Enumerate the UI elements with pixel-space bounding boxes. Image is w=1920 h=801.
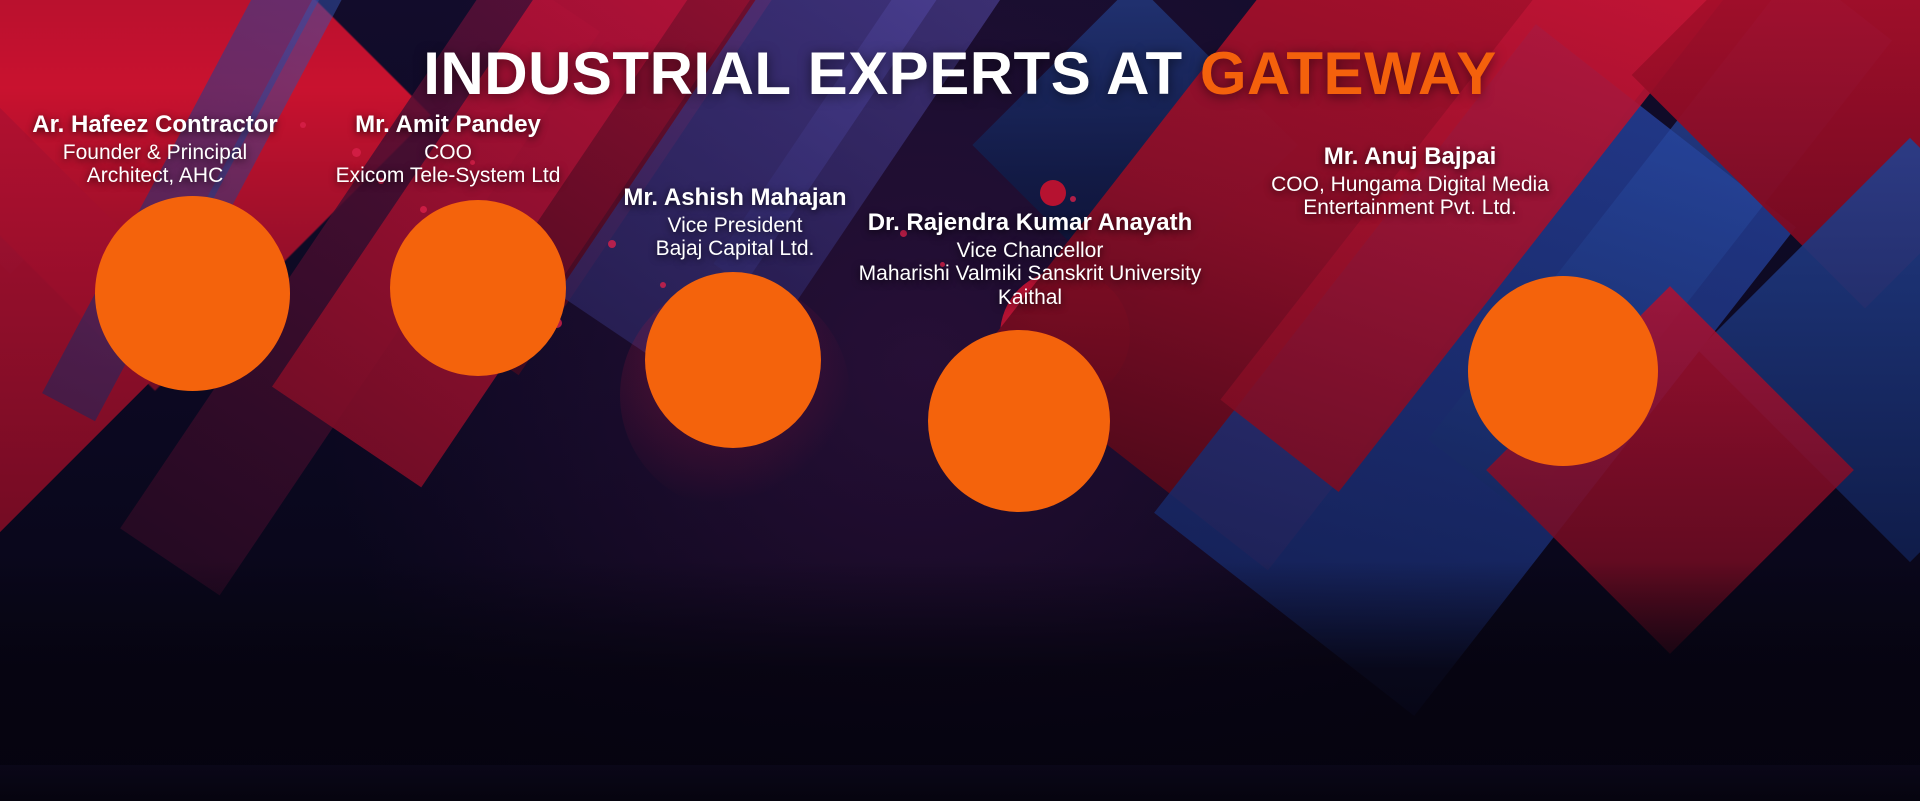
- stage-floor: [0, 765, 1920, 801]
- speaker-role-3: Vice President: [600, 214, 870, 238]
- speaker-org-2: Exicom Tele-System Ltd: [318, 164, 578, 188]
- speaker-org-3: Bajaj Capital Ltd.: [600, 237, 870, 261]
- decorative-speck: [660, 282, 666, 288]
- banner-title-main: INDUSTRIAL EXPERTS AT: [423, 40, 1200, 107]
- speaker-info-4: Dr. Rajendra Kumar Anayath Vice Chancell…: [850, 210, 1210, 309]
- speaker-org-5: Entertainment Pvt. Ltd.: [1160, 196, 1660, 220]
- speaker-org-1: Architect, AHC: [5, 164, 305, 188]
- speaker-role-5: COO, Hungama Digital Media: [1160, 173, 1660, 197]
- speaker-org-4-line2: Kaithal: [850, 286, 1210, 310]
- industrial-experts-banner: INDUSTRIAL EXPERTS AT GATEWAY Ar. Hafeez…: [0, 0, 1920, 801]
- speaker-name-1: Ar. Hafeez Contractor: [5, 112, 305, 139]
- speaker-halo-4: [928, 330, 1110, 512]
- decorative-speck: [1070, 196, 1076, 202]
- speaker-name-3: Mr. Ashish Mahajan: [600, 185, 870, 212]
- banner-title: INDUSTRIAL EXPERTS AT GATEWAY: [0, 44, 1920, 104]
- decorative-diamond-blue-right: [1698, 138, 1920, 562]
- speaker-role-4: Vice Chancellor: [850, 239, 1210, 263]
- speaker-role-1: Founder & Principal: [5, 141, 305, 165]
- speaker-info-2: Mr. Amit Pandey COO Exicom Tele-System L…: [318, 112, 578, 188]
- decorative-speck: [420, 206, 427, 213]
- speaker-halo-5: [1468, 276, 1658, 466]
- speaker-name-2: Mr. Amit Pandey: [318, 112, 578, 139]
- speaker-org-4: Maharishi Valmiki Sanskrit University: [850, 262, 1210, 286]
- speaker-info-3: Mr. Ashish Mahajan Vice President Bajaj …: [600, 185, 870, 261]
- banner-title-accent: GATEWAY: [1200, 40, 1497, 107]
- speaker-info-5: Mr. Anuj Bajpai COO, Hungama Digital Med…: [1160, 144, 1660, 220]
- speaker-info-1: Ar. Hafeez Contractor Founder & Principa…: [5, 112, 305, 188]
- speaker-halo-2: [390, 200, 566, 376]
- speaker-halo-1: [95, 196, 290, 391]
- speaker-name-5: Mr. Anuj Bajpai: [1160, 144, 1660, 171]
- decorative-circle-red-small: [1040, 180, 1066, 206]
- speaker-halo-3: [645, 272, 821, 448]
- speaker-name-4: Dr. Rajendra Kumar Anayath: [850, 210, 1210, 237]
- speaker-role-2: COO: [318, 141, 578, 165]
